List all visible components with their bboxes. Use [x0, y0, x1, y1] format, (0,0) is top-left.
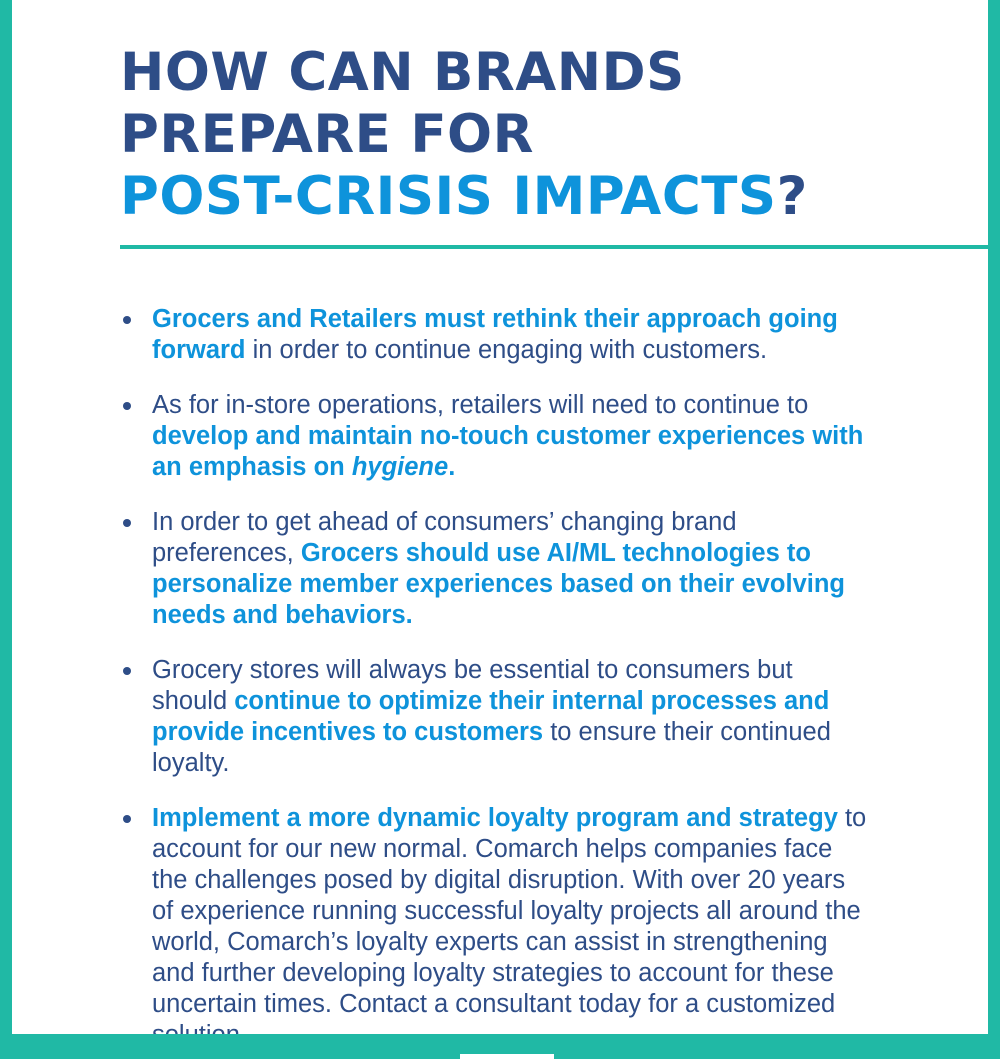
headline-line-3-accent: POST-CRISIS IMPACTS [120, 166, 777, 227]
list-item-text: As for in-store operations, retailers wi… [152, 391, 863, 481]
text-run-plain: to account for our new normal. Comarch h… [152, 804, 866, 1049]
list-item-text: Grocery stores will always be essential … [152, 656, 831, 777]
list-item-text: In order to get ahead of consumers’ chan… [152, 508, 845, 629]
page-title: HOW CAN BRANDS PREPARE FOR POST-CRISIS I… [120, 42, 980, 228]
text-run-strong: Implement a more dynamic loyalty program… [152, 804, 838, 832]
text-run-plain: As for in-store operations, retailers wi… [152, 391, 808, 419]
key-takeaways-list: Grocers and Retailers must rethink their… [120, 304, 870, 1051]
list-item: In order to get ahead of consumers’ chan… [120, 507, 870, 631]
right-accent-bar [988, 0, 1000, 1034]
title-divider-rule [120, 245, 988, 249]
text-run-plain: in order to continue engaging with custo… [246, 336, 768, 364]
list-item: As for in-store operations, retailers wi… [120, 390, 870, 483]
list-item: Grocers and Retailers must rethink their… [120, 304, 870, 366]
text-run-strong: develop and maintain no-touch customer e… [152, 422, 863, 481]
list-item: Grocery stores will always be essential … [120, 655, 870, 779]
list-item-text: Grocers and Retailers must rethink their… [152, 305, 838, 364]
slide-page: HOW CAN BRANDS PREPARE FOR POST-CRISIS I… [0, 0, 1000, 1034]
list-item-text: Implement a more dynamic loyalty program… [152, 804, 866, 1049]
bullet-dot-icon [123, 316, 131, 324]
bullet-dot-icon [123, 815, 131, 823]
footer-notch [460, 1054, 554, 1059]
headline-line-1: HOW CAN BRANDS [120, 42, 685, 103]
bullet-dot-icon [123, 667, 131, 675]
text-run-strong: . [448, 453, 455, 481]
headline-line-2: PREPARE FOR [120, 104, 534, 165]
left-accent-bar [0, 0, 12, 1034]
text-run-italic: hygiene [352, 453, 448, 481]
bullet-dot-icon [123, 519, 131, 527]
list-item: Implement a more dynamic loyalty program… [120, 803, 870, 1051]
headline-question-mark: ? [777, 166, 808, 227]
bullet-dot-icon [123, 402, 131, 410]
